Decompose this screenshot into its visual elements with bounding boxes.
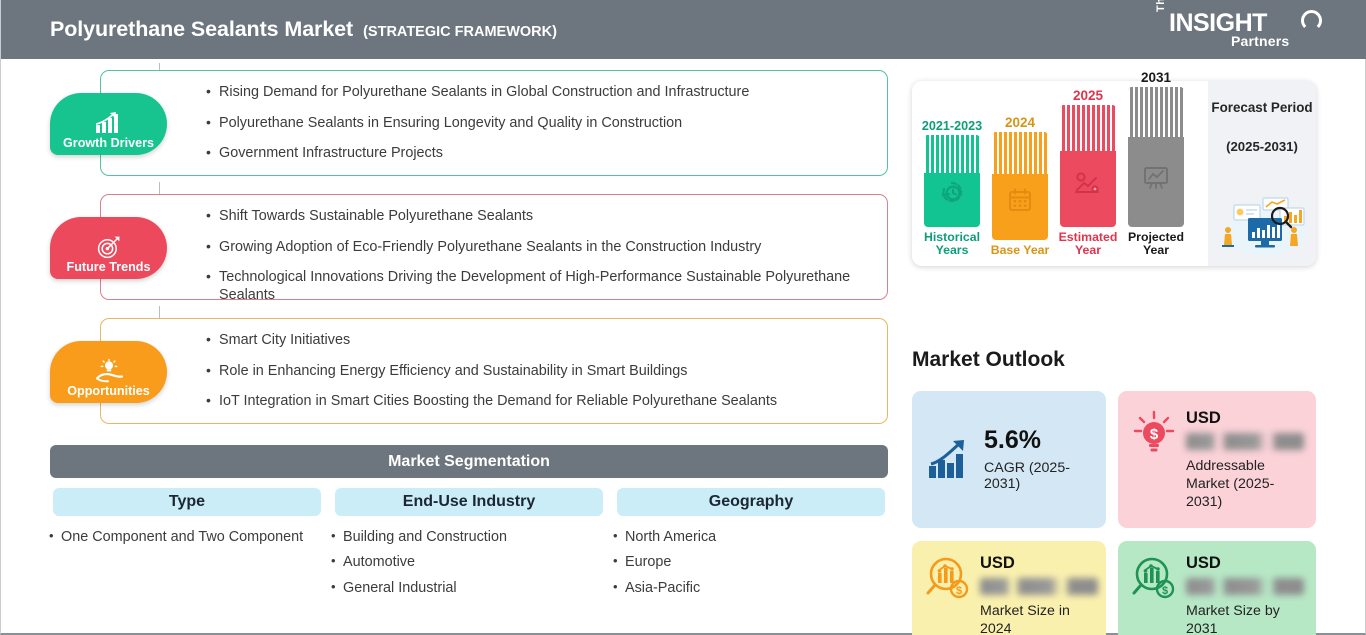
card-content: $ USD lorem ipsum Addressable Market (20… [1118,391,1316,528]
calendar-icon [1007,187,1033,213]
bar-caption: Projected Year [1121,231,1191,258]
badge-label: Future Trends [67,261,151,274]
outlook-card-addressable-market: $ USD lorem ipsum Addressable Market (20… [1118,391,1316,528]
badge-growth-drivers[interactable]: Growth Drivers [50,93,167,155]
bullet-list-growth-drivers: Rising Demand for Polyurethane Sealants … [101,71,887,176]
segmentation-column-header: Type [53,488,321,516]
svg-text:$: $ [956,585,962,597]
bar-year-label: 2025 [1073,88,1103,103]
forecast-bar-estimated: 2025 Estimated Year [1058,88,1118,258]
segmentation-column-type: Type One Component and Two Component [46,488,328,605]
card-caption: Market Size by 2031 [1186,602,1292,635]
card-content: 5.6% CAGR (2025-2031) [912,391,1106,528]
badge-label: Growth Drivers [63,137,154,150]
infographic-page: Polyurethane Sealants Market (STRATEGIC … [0,0,1366,635]
bullet-item: Role in Enhancing Energy Efficiency and … [206,363,887,381]
segmentation-column-geography: Geography North America Europe Asia-Paci… [610,488,892,605]
card-caption: Market Size in 2024 [980,602,1086,635]
svg-text:$: $ [1150,426,1159,443]
pillar-box-opportunities: Smart City Initiatives Role in Enhancing… [100,318,888,424]
header-title-group: Polyurethane Sealants Market (STRATEGIC … [50,17,557,42]
bar-stripe-overlay [1060,105,1116,151]
card-content: $ USD lorem ipsum Market Size in 2024 [912,541,1106,635]
logo-partners-text: Partners [1231,33,1289,49]
forecast-bar-base: 2024 [990,115,1050,258]
list-item: Europe [613,554,892,571]
bullet-item: Shift Towards Sustainable Polyurethane S… [206,208,887,226]
bar-body [1128,87,1184,227]
bar-year-label: 2024 [1005,115,1035,130]
list-item: Automotive [331,554,610,571]
outlook-card-market-size-2024: $ USD lorem ipsum Market Size in 2024 [912,541,1106,635]
blurred-value: lorem ipsum [980,578,1098,595]
market-segmentation-title: Market Segmentation [388,453,550,471]
segmentation-columns: Type One Component and Two Component End… [46,488,892,605]
monitor-chart-icon [1142,164,1170,190]
logo-the-text: The [1155,0,1167,12]
segmentation-column-header: End-Use Industry [335,488,603,516]
bullet-item: Technological Innovations Driving the De… [206,269,887,304]
outlook-card-cagr: 5.6% CAGR (2025-2031) [912,391,1106,528]
pillar-box-future-trends: Shift Towards Sustainable Polyurethane S… [100,194,888,300]
magnifier-chart-dollar-icon: $ [1128,554,1180,635]
card-text: USD lorem ipsum Market Size in 2024 [974,554,1098,635]
badge-label: Opportunities [67,385,150,398]
segmentation-column-header: Geography [617,488,885,516]
target-dart-icon [94,235,124,259]
magnifier-chart-dollar-icon: $ [922,554,974,635]
card-content: $ USD lorem ipsum Market Size by 2031 [1118,541,1316,635]
pillar-box-growth-drivers: Rising Demand for Polyurethane Sealants … [100,70,888,176]
bullet-list-opportunities: Smart City Initiatives Role in Enhancing… [101,319,887,424]
list-item: General Industrial [331,580,610,597]
page-title: Polyurethane Sealants Market [50,17,353,42]
segmentation-column-title: Type [169,493,205,511]
badge-future-trends[interactable]: Future Trends [50,217,167,279]
forecast-period-panel: Forecast Period (2025-2031) [1208,81,1316,266]
segmentation-item-list: One Component and Two Component [46,516,328,546]
bullet-item: Smart City Initiatives [206,332,887,350]
clock-history-icon [939,179,965,205]
left-content-panel: Rising Demand for Polyurethane Sealants … [1,59,901,635]
segmentation-column-title: Geography [709,493,793,511]
segmentation-item-list: Building and Construction Automotive Gen… [328,516,610,597]
list-item: Building and Construction [331,529,610,546]
bar-year-label: 2021-2023 [922,119,982,133]
card-caption: Addressable Market (2025-2031) [1186,457,1298,512]
bullet-item: Government Infrastructure Projects [206,145,887,163]
bar-caption: Base Year [985,244,1055,258]
bar-body [924,135,980,227]
forecast-bar-projected: 2031 Projected Year [1126,70,1186,258]
forecast-period-title: Forecast Period [1208,99,1316,116]
bullet-list-future-trends: Shift Towards Sustainable Polyurethane S… [101,195,887,317]
page-header: Polyurethane Sealants Market (STRATEGIC … [1,0,1366,59]
bar-caption: Estimated Year [1053,231,1123,258]
forecast-bar-historical: 2021-2023 Historical Years [922,119,982,258]
segmentation-column-title: End-Use Industry [403,493,535,511]
hand-lightbulb-icon [93,359,125,383]
currency-label: USD [1186,554,1304,573]
market-outlook-title: Market Outlook [912,348,1065,372]
page-subtitle: (STRATEGIC FRAMEWORK) [363,24,557,40]
currency-label: USD [1186,409,1304,428]
blurred-value: lorem ipsum [1186,578,1304,595]
card-text: USD lorem ipsum Addressable Market (2025… [1180,409,1304,528]
svg-text:$: $ [1162,585,1168,597]
bar-caption: Historical Years [917,231,987,258]
list-item: Asia-Pacific [613,580,892,597]
lightbulb-dollar-icon: $ [1128,409,1180,528]
market-segmentation-header: Market Segmentation [50,445,888,478]
cagr-caption: CAGR (2025-2031) [984,460,1096,492]
bullet-item: Polyurethane Sealants in Ensuring Longev… [206,115,887,133]
forecast-period-card: 2021-2023 Historical Years 2024 [912,81,1316,266]
forecast-bars-group: 2021-2023 Historical Years 2024 [912,81,1208,266]
bar-body [992,132,1048,240]
list-item: North America [613,529,892,546]
bullet-item: IoT Integration in Smart Cities Boosting… [206,393,887,411]
bar-year-label: 2031 [1141,70,1171,85]
bullet-item: Rising Demand for Polyurethane Sealants … [206,84,887,102]
bar-body [1060,105,1116,227]
outlook-card-market-size-2031: $ USD lorem ipsum Market Size by 2031 [1118,541,1316,635]
bar-stripe-overlay [924,135,980,173]
cagr-value: 5.6% [984,428,1096,453]
list-item: One Component and Two Component [49,529,328,546]
blurred-value: lorem ipsum [1186,433,1304,450]
bullet-item: Growing Adoption of Eco-Friendly Polyure… [206,239,887,257]
insight-partners-logo[interactable]: The INSIGHT Partners [1155,9,1345,51]
segmentation-column-end-use-industry: End-Use Industry Building and Constructi… [328,488,610,605]
bar-chart-arrow-up-icon [922,438,978,482]
segmentation-item-list: North America Europe Asia-Pacific [610,516,892,597]
badge-opportunities[interactable]: Opportunities [50,341,167,403]
logo-ring-icon [1301,10,1322,31]
currency-label: USD [980,554,1098,573]
bar-chart-arrow-up-icon [94,111,124,135]
forecast-chart-icon [1074,170,1102,196]
bar-stripe-overlay [1128,87,1184,137]
forecast-period-range: (2025-2031) [1208,139,1316,154]
right-content-panel: 2021-2023 Historical Years 2024 [901,59,1366,635]
card-text: USD lorem ipsum Market Size by 2031 [1180,554,1304,635]
card-text: 5.6% CAGR (2025-2031) [978,428,1096,492]
analytics-team-illustration [1214,190,1310,256]
bar-stripe-overlay [992,132,1048,174]
